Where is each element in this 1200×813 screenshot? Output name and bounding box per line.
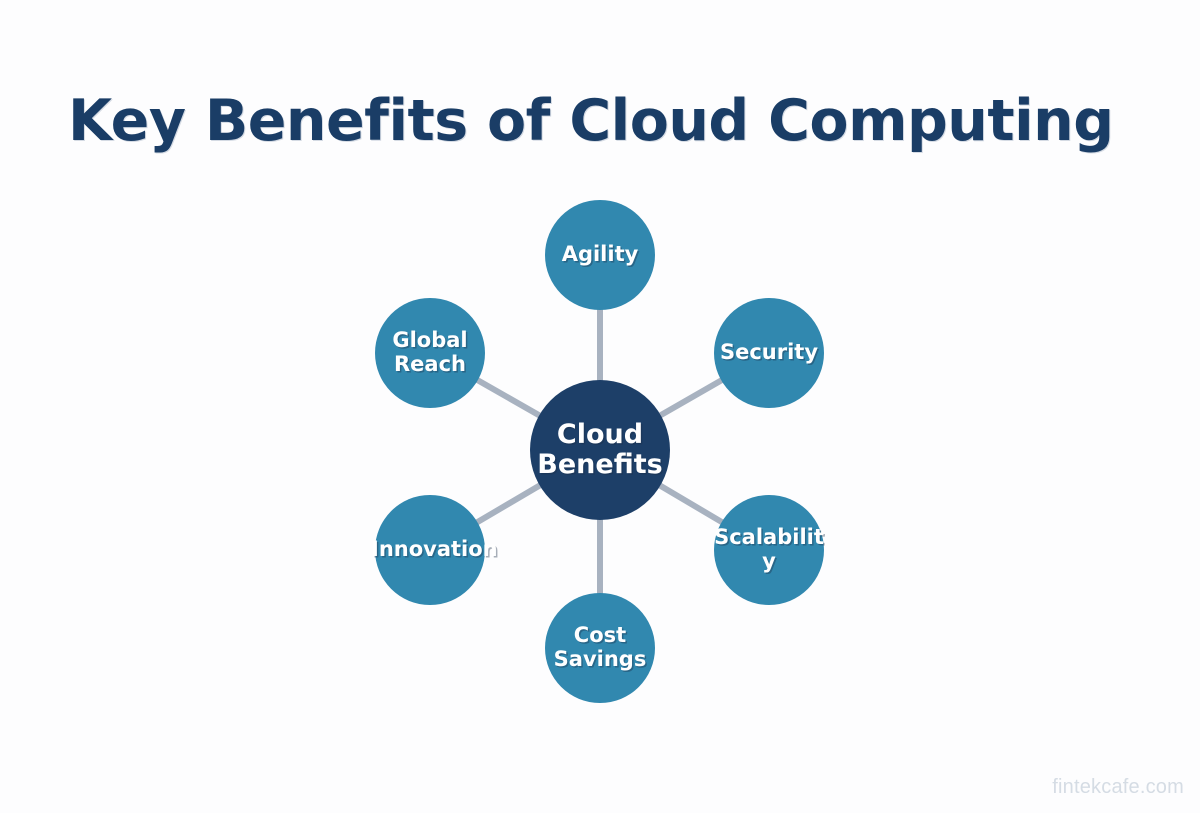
node-scalability-label: Scalabilit y xyxy=(714,526,824,573)
node-global-reach-label: Global Reach xyxy=(375,329,485,376)
node-security-label: Security xyxy=(714,341,824,365)
node-innovation[interactable]: Innovation xyxy=(375,495,485,605)
node-cloud-benefits[interactable]: Cloud Benefits xyxy=(530,380,670,520)
node-agility[interactable]: Agility xyxy=(545,200,655,310)
node-agility-label: Agility xyxy=(545,243,655,267)
node-cloud-benefits-label: Cloud Benefits xyxy=(530,420,670,480)
hub-and-spoke-diagram: AgilitySecurityScalabilit yCost SavingsI… xyxy=(0,0,1200,813)
node-cost-savings[interactable]: Cost Savings xyxy=(545,593,655,703)
node-scalability[interactable]: Scalabilit y xyxy=(714,495,824,605)
diagram-canvas: Key Benefits of Cloud Computing AgilityS… xyxy=(0,0,1200,813)
node-global-reach[interactable]: Global Reach xyxy=(375,298,485,408)
node-innovation-label: Innovation xyxy=(371,538,489,562)
node-cost-savings-label: Cost Savings xyxy=(545,624,655,671)
watermark: fintekcafe.com xyxy=(1052,776,1184,799)
node-security[interactable]: Security xyxy=(714,298,824,408)
